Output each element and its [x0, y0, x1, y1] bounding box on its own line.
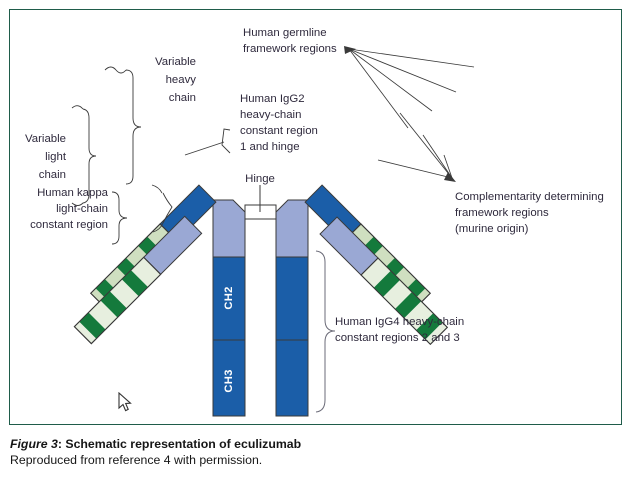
svg-text:light-chain: light-chain — [56, 203, 108, 215]
svg-text:heavy: heavy — [166, 74, 197, 86]
leaders-cdr-regions — [378, 113, 456, 182]
brace-human-kappa — [112, 192, 127, 244]
label-variable-light-chain: Variable light chain — [25, 133, 67, 181]
label-human-kappa-constant: Human kappa light-chain constant region — [30, 187, 109, 231]
svg-text:Variable: Variable — [25, 133, 66, 145]
svg-text:Human germline: Human germline — [243, 27, 327, 39]
mouse-cursor — [118, 392, 132, 412]
svg-text:Variable: Variable — [155, 56, 196, 68]
fc-left-chain: CH2 CH3 — [213, 200, 245, 416]
antibody-schematic-diagram: CH2 CH3 CH1 — [0, 0, 633, 430]
brace-human-igg4 — [316, 251, 335, 412]
fc-right-chain — [276, 200, 308, 416]
svg-text:constant region: constant region — [30, 219, 108, 231]
fc-right-ch3 — [276, 340, 308, 416]
segment-label-ch1: CH1 — [160, 161, 185, 186]
svg-text:chain: chain — [39, 169, 66, 181]
svg-text:light: light — [45, 151, 67, 163]
svg-text:Complementarity determining: Complementarity determining — [455, 191, 604, 203]
fc-left-shoulder — [213, 200, 245, 258]
fc-right-shoulder — [276, 200, 308, 258]
segment-label-cl: CL — [145, 180, 164, 199]
svg-text:1 and hinge: 1 and hinge — [240, 141, 300, 153]
svg-text:(murine origin): (murine origin) — [455, 223, 529, 235]
figure-title: Schematic representation of eculizumab — [65, 437, 301, 451]
brace-variable-heavy — [105, 67, 141, 184]
svg-text:constant regions 2 and 3: constant regions 2 and 3 — [335, 332, 460, 344]
svg-text:framework regions: framework regions — [243, 43, 337, 55]
svg-text:Human IgG4 heavy-chain: Human IgG4 heavy-chain — [335, 316, 464, 328]
svg-text:heavy-chain: heavy-chain — [240, 109, 301, 121]
figure-colon: : — [58, 437, 62, 451]
leaders-human-germline — [344, 46, 474, 128]
leader-human-igg2-line — [185, 142, 224, 155]
svg-text:Human kappa: Human kappa — [37, 187, 109, 199]
svg-text:chain: chain — [169, 92, 196, 104]
fc-right-ch2 — [276, 257, 308, 340]
figure-caption: Figure 3: Schematic representation of ec… — [10, 437, 610, 468]
label-hinge: Hinge — [245, 173, 275, 185]
figure-credit: Reproduced from reference 4 with permiss… — [10, 453, 610, 469]
figure-panel: CH2 CH3 CH1 — [0, 0, 633, 485]
svg-text:constant region: constant region — [240, 125, 318, 137]
cursor-arrow-glyph — [119, 393, 131, 411]
label-human-germline-framework: Human germline framework regions — [243, 27, 337, 55]
leader-human-igg2 — [222, 129, 230, 153]
label-human-igg2-constant: Human IgG2 heavy-chain constant region 1… — [240, 93, 318, 153]
segment-label-ch2: CH2 — [223, 286, 235, 309]
svg-text:framework regions: framework regions — [455, 207, 549, 219]
label-cdr-murine: Complementarity determining framework re… — [455, 191, 604, 235]
figure-number: Figure 3 — [10, 437, 58, 451]
svg-text:Human IgG2: Human IgG2 — [240, 93, 305, 105]
segment-label-ch3: CH3 — [223, 369, 235, 392]
left-arm-light — [74, 216, 201, 343]
label-variable-heavy-chain: Variable heavy chain — [155, 56, 196, 104]
